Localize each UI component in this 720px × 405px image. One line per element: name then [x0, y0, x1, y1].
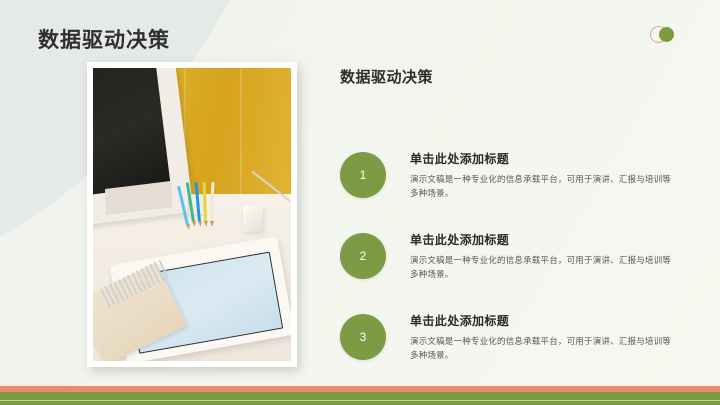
item-heading: 单击此处添加标题 — [410, 150, 678, 167]
item-body: 演示文稿是一种专业化的信息承载平台，可用于演讲、汇报与培训等多种场景。 — [410, 253, 678, 281]
footer-stripe-green — [0, 392, 720, 405]
item-text-block: 单击此处添加标题 演示文稿是一种专业化的信息承载平台，可用于演讲、汇报与培训等多… — [410, 229, 678, 281]
corner-motif — [650, 26, 682, 44]
item-body: 演示文稿是一种专业化的信息承载平台，可用于演讲、汇报与培训等多种场景。 — [410, 172, 678, 200]
photo-cube — [243, 206, 263, 232]
list-item[interactable]: 3 单击此处添加标题 演示文稿是一种专业化的信息承载平台，可用于演讲、汇报与培训… — [340, 310, 700, 362]
item-heading: 单击此处添加标题 — [410, 231, 678, 248]
page-title-right: 数据驱动决策 — [340, 66, 433, 87]
item-number-badge: 2 — [340, 233, 386, 279]
list-item[interactable]: 2 单击此处添加标题 演示文稿是一种专业化的信息承载平台，可用于演讲、汇报与培训… — [340, 229, 700, 281]
list-item[interactable]: 1 单击此处添加标题 演示文稿是一种专业化的信息承载平台，可用于演讲、汇报与培训… — [340, 148, 700, 200]
content-item-list: 1 单击此处添加标题 演示文稿是一种专业化的信息承载平台，可用于演讲、汇报与培训… — [340, 148, 700, 391]
circle-filled-icon — [659, 27, 674, 42]
item-number-badge: 3 — [340, 314, 386, 360]
photo-image — [93, 68, 291, 361]
page-title-left: 数据驱动决策 — [38, 24, 170, 54]
photo-card — [87, 62, 297, 367]
slide-canvas: 数据驱动决策 数据驱动决策 — [0, 0, 720, 405]
item-text-block: 单击此处添加标题 演示文稿是一种专业化的信息承载平台，可用于演讲、汇报与培训等多… — [410, 148, 678, 200]
footer-stripe-hairline — [0, 400, 720, 401]
item-number-badge: 1 — [340, 152, 386, 198]
item-heading: 单击此处添加标题 — [410, 312, 678, 329]
item-body: 演示文稿是一种专业化的信息承载平台，可用于演讲、汇报与培训等多种场景。 — [410, 334, 678, 362]
item-text-block: 单击此处添加标题 演示文稿是一种专业化的信息承载平台，可用于演讲、汇报与培训等多… — [410, 310, 678, 362]
